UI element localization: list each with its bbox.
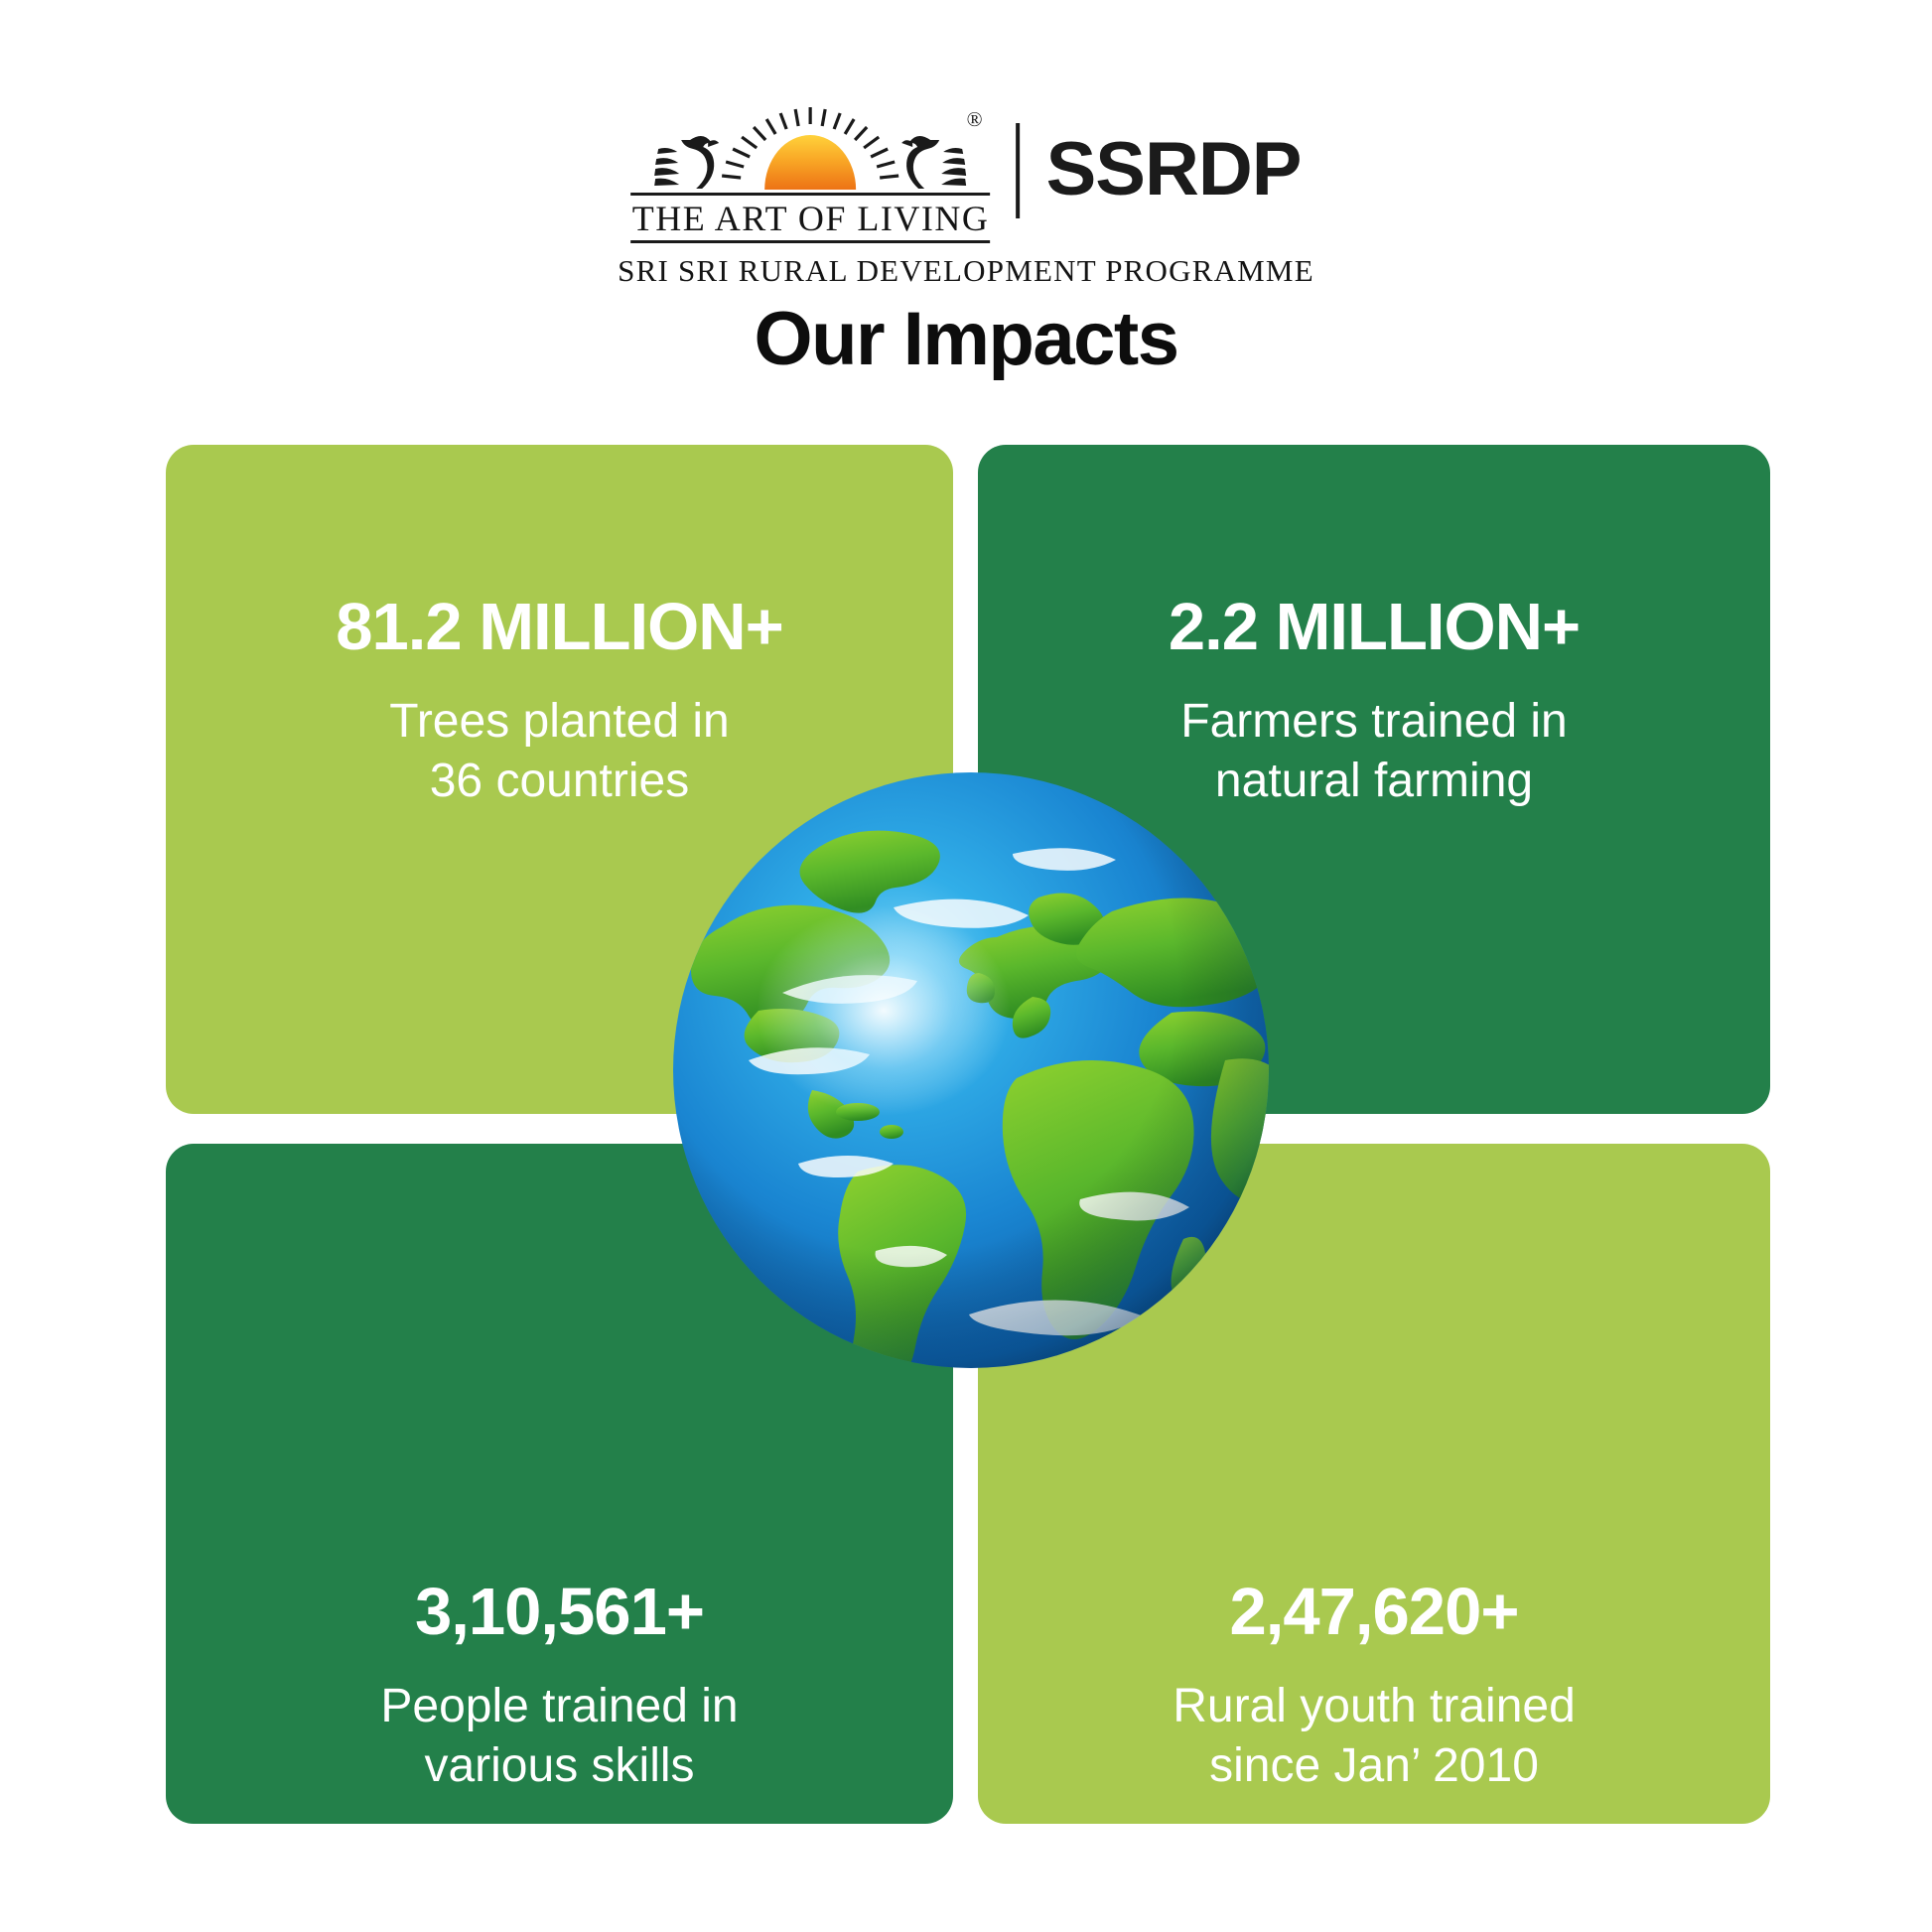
header: ® THE ART OF LIVING SSRDP SRI SRI RURAL … (0, 0, 1932, 397)
impact-stat-description: Farmers trained in natural farming (1180, 692, 1567, 811)
impact-stat-value: 2.2 MILLION+ (1169, 594, 1580, 660)
program-tagline: SRI SRI RURAL DEVELOPMENT PROGRAMME (618, 253, 1314, 289)
brand-logo: ® THE ART OF LIVING SSRDP SRI SRI RURAL … (618, 107, 1314, 289)
impact-stat-value: 3,10,561+ (415, 1579, 704, 1645)
impact-stats-grid: 81.2 MILLION+ Trees planted in 36 countr… (166, 445, 1770, 1824)
logo-row: ® THE ART OF LIVING SSRDP (631, 107, 1302, 243)
impact-card-rural-youth: 2,47,620+ Rural youth trained since Jan’… (978, 1144, 1770, 1824)
sunrise-swans-icon: ® (631, 107, 991, 193)
impact-stat-description: Trees planted in 36 countries (389, 692, 729, 811)
program-abbreviation: SSRDP (1046, 132, 1302, 207)
registered-trademark-icon: ® (967, 109, 983, 130)
impact-stat-description: Rural youth trained since Jan’ 2010 (1173, 1677, 1576, 1796)
art-of-living-logo: ® THE ART OF LIVING (631, 107, 991, 243)
impact-card-people-skilled: 3,10,561+ People trained in various skil… (166, 1144, 953, 1824)
logo-rule-bottom (631, 240, 991, 243)
org-name: THE ART OF LIVING (632, 196, 990, 240)
impact-card-farmers-trained: 2.2 MILLION+ Farmers trained in natural … (978, 445, 1770, 1114)
logo-divider (1017, 123, 1021, 218)
impact-stat-value: 2,47,620+ (1230, 1579, 1519, 1645)
impact-card-trees-planted: 81.2 MILLION+ Trees planted in 36 countr… (166, 445, 953, 1114)
impact-stat-value: 81.2 MILLION+ (336, 594, 783, 660)
impact-stat-description: People trained in various skills (380, 1677, 738, 1796)
page-title: Our Impacts (0, 296, 1932, 382)
